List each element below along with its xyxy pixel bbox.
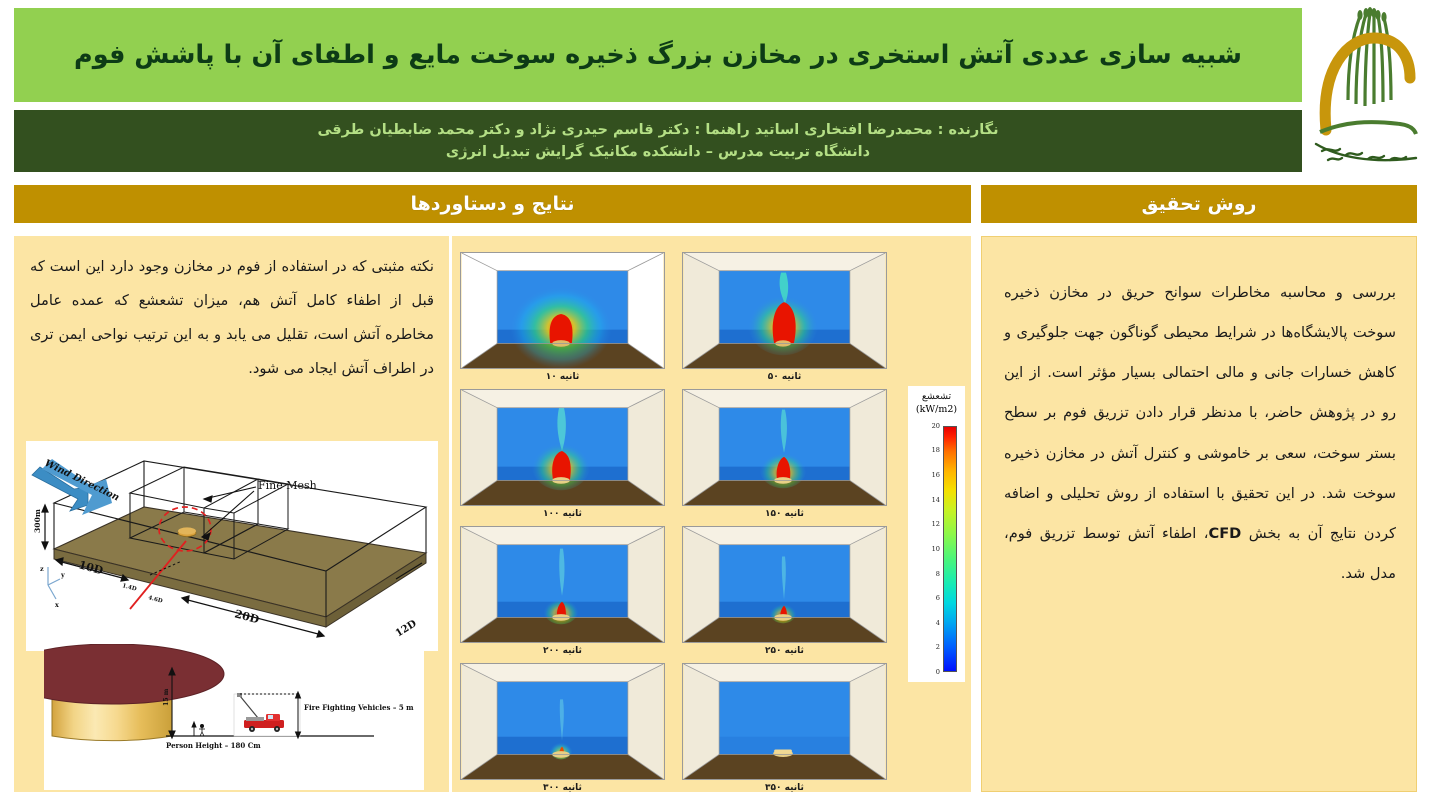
sim-caption: ثانیه ۵۰: [682, 369, 887, 384]
sim-caption: ثانیه ۲۵۰: [682, 643, 887, 658]
simulation-frame-grid: ثانیه ۱۰: [460, 252, 900, 797]
colorbar-tick: 16: [932, 471, 940, 479]
sim-cell[interactable]: ثانیه ۲۵۰: [682, 526, 887, 658]
colorbar-tick: 18: [932, 446, 940, 454]
radiation-colorbar-legend: تشعشع (kW/m2) 20 18 16 14 12 10 8 6 4 2 …: [908, 386, 965, 682]
sim-frame-200s[interactable]: [460, 526, 665, 643]
page-title: شبیه سازی عددی آتش استخری در مخازن بزرگ …: [74, 40, 1242, 70]
fire-vehicle-label: Fire Fighting Vehicles – 5 m: [304, 703, 414, 712]
tank-height-label: 15 m: [163, 688, 170, 706]
person-height-label: Person Height – 180 Cm: [166, 741, 261, 750]
sim-cell[interactable]: ثانیه ۳۵۰: [682, 663, 887, 795]
cad-label-fine-mesh: Fine Mesh: [258, 479, 317, 492]
colorbar-tick: 12: [932, 520, 940, 528]
colorbar-tick: 4: [936, 619, 940, 627]
section-header-method: روش تحقیق: [981, 185, 1417, 223]
sim-cell[interactable]: ثانیه ۲۰۰: [460, 526, 665, 658]
sim-frame-300s[interactable]: [460, 663, 665, 780]
sim-frame-350s[interactable]: [682, 663, 887, 780]
sim-cell[interactable]: ثانیه ۱۰: [460, 252, 665, 384]
section-header-method-label: روش تحقیق: [1142, 193, 1257, 215]
colorbar-tick: 2: [936, 643, 940, 651]
university-logo: [1304, 4, 1430, 172]
sim-frame-150s[interactable]: [682, 389, 887, 506]
method-paragraph: بررسی و محاسبه مخاطرات سوانح حریق در مخا…: [1004, 273, 1396, 594]
method-paragraph-cfd: CFD: [1208, 525, 1241, 542]
section-header-results-label: نتایج و دستاوردها: [410, 193, 574, 215]
tank-scale-figure: 15 m: [44, 644, 424, 790]
sim-caption: ثانیه ۲۰۰: [460, 643, 665, 658]
colorbar-tick: 14: [932, 496, 940, 504]
sim-caption: ثانیه ۱۰۰: [460, 506, 665, 521]
panel-left-findings: نکته مثبتی که در استفاده از فوم در مخازن…: [14, 236, 449, 792]
findings-paragraph: نکته مثبتی که در استفاده از فوم در مخازن…: [30, 250, 434, 385]
colorbar-tick: 10: [932, 545, 940, 553]
poster-root: شبیه سازی عددی آتش استخری در مخازن بزرگ …: [0, 0, 1431, 797]
sim-row: ثانیه ۲۰۰: [460, 526, 900, 658]
cad-axis-x: x: [55, 601, 59, 609]
sim-frame-250s[interactable]: [682, 526, 887, 643]
colorbar-gradient: [943, 426, 957, 672]
panel-research-method: بررسی و محاسبه مخاطرات سوانح حریق در مخا…: [981, 236, 1417, 792]
cad-label-height: 300m: [33, 509, 42, 533]
colorbar-body: 20 18 16 14 12 10 8 6 4 2 0: [908, 418, 965, 682]
computational-domain-figure: Wind Direction Fine Mesh 300m: [26, 441, 438, 651]
colorbar-tick-labels: 20 18 16 14 12 10 8 6 4 2 0: [912, 426, 940, 672]
sim-row: ثانیه ۱۰۰: [460, 389, 900, 521]
section-header-results: نتایج و دستاوردها: [14, 185, 971, 223]
sim-caption: ثانیه ۱۵۰: [682, 506, 887, 521]
sim-caption: ثانیه ۱۰: [460, 369, 665, 384]
affiliation-line: دانشگاه تربیت مدرس – دانشکده مکانیک گرای…: [446, 142, 870, 164]
colorbar-tick: 0: [936, 668, 940, 676]
cad-axis-y: y: [60, 571, 65, 579]
sim-cell[interactable]: ثانیه ۱۰۰: [460, 389, 665, 521]
cad-axis-z: z: [40, 565, 44, 573]
sim-caption: ثانیه ۳۰۰: [460, 780, 665, 795]
colorbar-units: (kW/m2): [916, 404, 957, 415]
sim-cell[interactable]: ثانیه ۵۰: [682, 252, 887, 384]
colorbar-tick: 8: [936, 570, 940, 578]
sim-row: ثانیه ۳۰۰: [460, 663, 900, 795]
sim-frame-50s[interactable]: [682, 252, 887, 369]
panel-simulation-results: ثانیه ۱۰: [452, 236, 971, 792]
colorbar-tick: 6: [936, 594, 940, 602]
sim-row: ثانیه ۱۰: [460, 252, 900, 384]
sim-frame-100s[interactable]: [460, 389, 665, 506]
author-affiliation-bar: نگارنده : محمدرضا افتخاری اساتید راهنما …: [14, 110, 1302, 172]
sim-cell[interactable]: ثانیه ۳۰۰: [460, 663, 665, 795]
colorbar-title: تشعشع: [922, 391, 951, 404]
sim-caption: ثانیه ۳۵۰: [682, 780, 887, 795]
poster-title-bar: شبیه سازی عددی آتش استخری در مخازن بزرگ …: [14, 8, 1302, 102]
sim-cell[interactable]: ثانیه ۱۵۰: [682, 389, 887, 521]
method-paragraph-pre: بررسی و محاسبه مخاطرات سوانح حریق در مخا…: [1004, 284, 1396, 542]
colorbar-tick: 20: [932, 422, 940, 430]
author-line: نگارنده : محمدرضا افتخاری اساتید راهنما …: [317, 120, 998, 142]
sim-frame-10s[interactable]: [460, 252, 665, 369]
